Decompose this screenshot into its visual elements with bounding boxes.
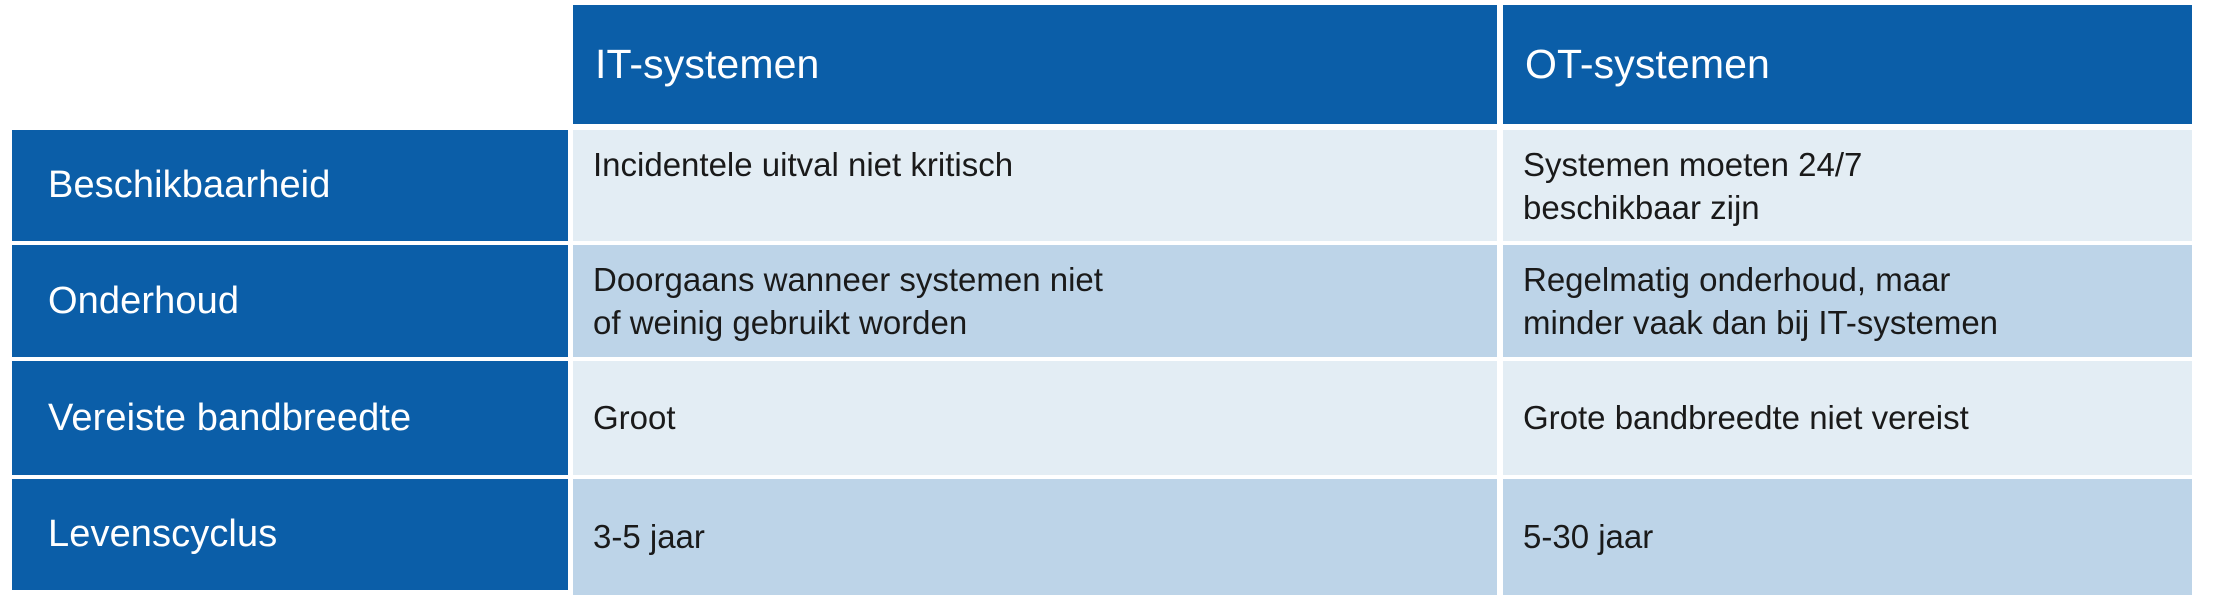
cell-text: 5-30 jaar (1523, 516, 2172, 559)
table-cell-levenscyclus-it: 3-5 jaar (573, 479, 1497, 595)
cell-text: Systemen moeten 24/7 beschikbaar zijn (1523, 144, 2172, 230)
table-cell-vereiste-bandbreedte-ot: Grote bandbreedte niet vereist (1503, 361, 2192, 475)
cell-text: 3-5 jaar (593, 516, 1477, 559)
row-label-text: Beschikbaarheid (48, 164, 532, 207)
row-label-text: Onderhoud (48, 280, 532, 323)
table-row-label-vereiste-bandbreedte: Vereiste bandbreedte (12, 361, 568, 475)
cell-text: Regelmatig onderhoud, maar minder vaak d… (1523, 259, 2172, 345)
header-label-ot-systemen: OT-systemen (1525, 41, 2170, 88)
cell-text: Grote bandbreedte niet vereist (1523, 397, 2172, 440)
cell-text: Doorgaans wanneer systemen niet of weini… (593, 259, 1477, 345)
row-label-text: Vereiste bandbreedte (48, 397, 532, 440)
table-cell-onderhoud-it: Doorgaans wanneer systemen niet of weini… (573, 245, 1497, 357)
comparison-table: IT-systemen OT-systemen Beschikbaarheid … (0, 0, 2218, 606)
table-cell-onderhoud-ot: Regelmatig onderhoud, maar minder vaak d… (1503, 245, 2192, 357)
cell-text: Groot (593, 397, 1477, 440)
cell-text: Incidentele uitval niet kritisch (593, 144, 1477, 187)
header-cell-it-systemen: IT-systemen (573, 5, 1497, 124)
header-label-it-systemen: IT-systemen (595, 41, 1475, 88)
table-cell-beschikbaarheid-it: Incidentele uitval niet kritisch (573, 130, 1497, 241)
header-cell-ot-systemen: OT-systemen (1503, 5, 2192, 124)
table-row-label-levenscyclus: Levenscyclus (12, 479, 568, 590)
table-row-label-beschikbaarheid: Beschikbaarheid (12, 130, 568, 241)
row-label-text: Levenscyclus (48, 513, 532, 556)
table-cell-beschikbaarheid-ot: Systemen moeten 24/7 beschikbaar zijn (1503, 130, 2192, 241)
table-cell-vereiste-bandbreedte-it: Groot (573, 361, 1497, 475)
header-cell-criterion (12, 5, 568, 124)
table-row-label-onderhoud: Onderhoud (12, 245, 568, 357)
table-cell-levenscyclus-ot: 5-30 jaar (1503, 479, 2192, 595)
